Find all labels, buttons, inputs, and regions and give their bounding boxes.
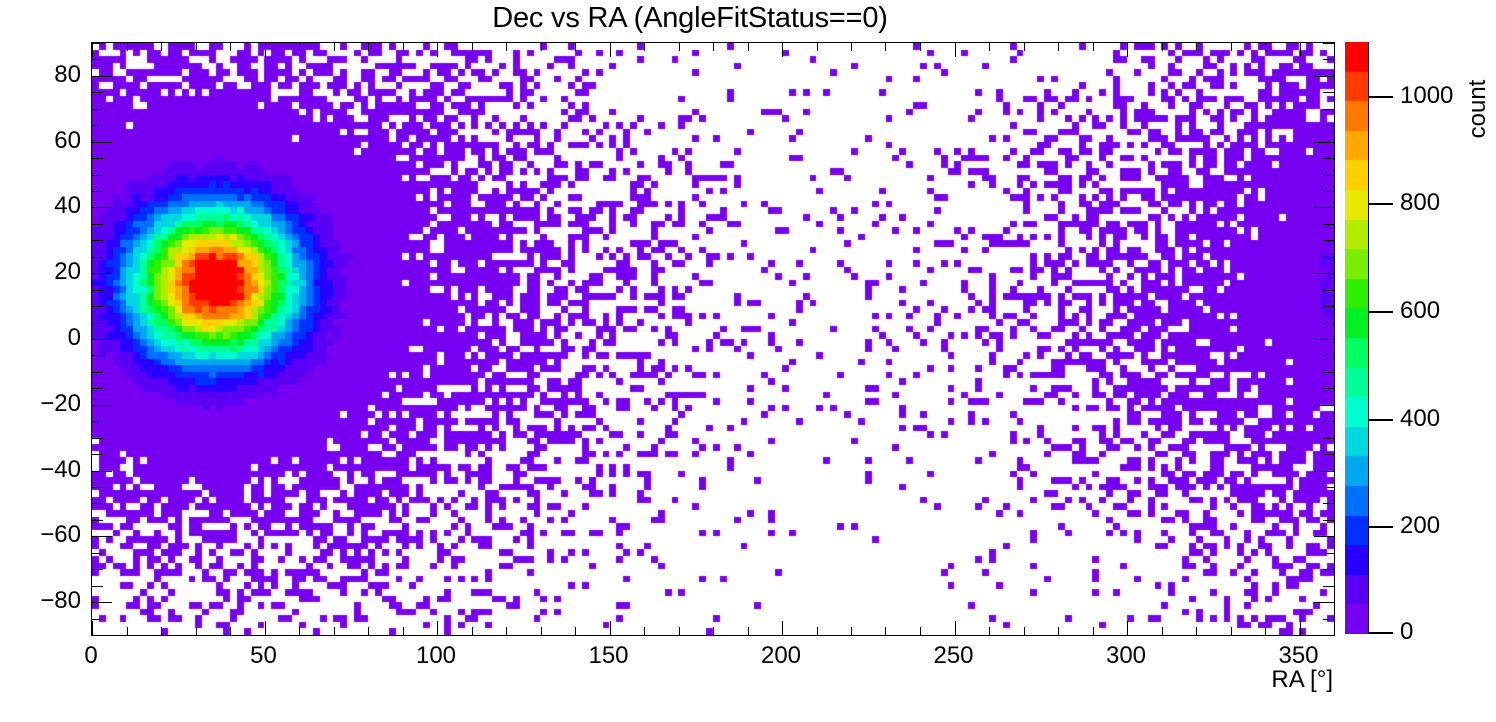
colorbar-gradient (1345, 42, 1369, 634)
colorbar-tick (1369, 203, 1393, 205)
y-axis-tick (1323, 635, 1334, 636)
y-axis-tick-label: 80 (54, 61, 81, 89)
colorbar-tick-label: 800 (1400, 189, 1440, 217)
plot-frame (91, 42, 1335, 636)
colorbar-tick (1369, 419, 1393, 421)
colorbar-tick-label: 600 (1400, 297, 1440, 325)
y-axis-tick-label: −20 (40, 390, 81, 418)
y-axis-tick-label: 60 (54, 127, 81, 155)
y-axis-tick-label: 20 (54, 258, 81, 286)
y-axis-tick-label: 0 (68, 324, 81, 352)
y-axis-tick-label: −40 (40, 456, 81, 484)
x-axis-tick-label: 0 (84, 642, 97, 670)
y-axis-tick-label: −60 (40, 521, 81, 549)
plot-canvas-root: Dec vs RA (AngleFitStatus==0) 0501001502… (0, 0, 1496, 722)
colorbar-tick (1369, 526, 1393, 528)
x-axis-tick-label: 150 (588, 642, 628, 670)
x-axis-tick (1334, 627, 1335, 635)
colorbar-tick-label: 400 (1400, 405, 1440, 433)
colorbar (1345, 42, 1392, 634)
colorbar-tick-label: 1000 (1400, 82, 1453, 110)
x-axis-tick-label: 50 (250, 642, 277, 670)
y-axis-tick (92, 635, 103, 636)
colorbar-tick-label: 0 (1400, 618, 1413, 646)
colorbar-tick (1369, 632, 1393, 634)
x-axis-tick-label: 200 (761, 642, 801, 670)
histogram-canvas (92, 43, 1334, 635)
y-axis-tick-label: 40 (54, 192, 81, 220)
page-title: Dec vs RA (AngleFitStatus==0) (0, 2, 1380, 35)
y-axis-tick-label: −80 (40, 587, 81, 615)
x-axis-tick-label: 300 (1106, 642, 1146, 670)
colorbar-title: count (1464, 49, 1492, 169)
x-axis-tick-label: 250 (933, 642, 973, 670)
colorbar-tick-label: 200 (1400, 512, 1440, 540)
colorbar-tick (1369, 311, 1393, 313)
x-axis-tick (1334, 43, 1335, 51)
x-axis-tick-label: 100 (416, 642, 456, 670)
x-axis-title: RA [°] (1271, 666, 1333, 694)
colorbar-tick (1369, 96, 1393, 98)
